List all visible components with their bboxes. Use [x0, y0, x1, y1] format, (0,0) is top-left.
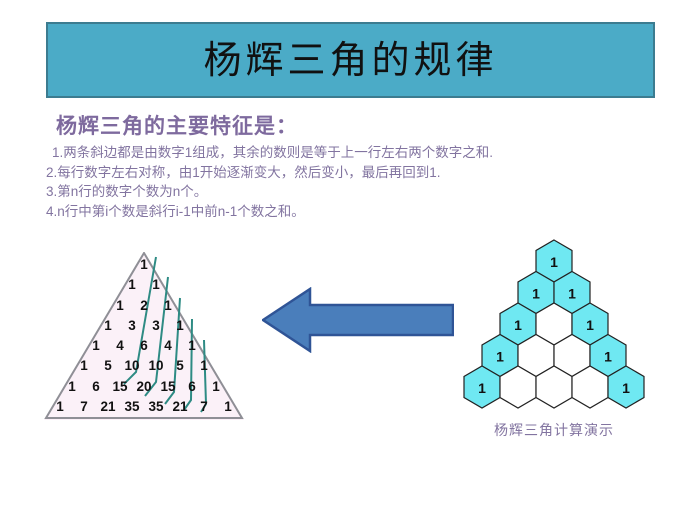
triangle-cell: 1: [60, 377, 84, 397]
hex-label: 1: [532, 286, 540, 302]
hex-label: 1: [550, 254, 558, 270]
triangle-cell: 1: [168, 316, 192, 336]
hex-label: 1: [568, 286, 576, 302]
table-row: 1 6 15 20 15 6 1: [44, 377, 244, 397]
feature-item-3: 3.第n行的数字个数为n个。: [46, 182, 646, 202]
triangle-cell: 1: [144, 275, 168, 295]
hex-label: 1: [496, 349, 504, 365]
triangle-cell: 7: [72, 397, 96, 417]
table-row: 1: [44, 255, 244, 275]
triangle-cell: 6: [180, 377, 204, 397]
triangle-cell: 4: [156, 336, 180, 356]
triangle-cell: 35: [144, 397, 168, 417]
triangle-cell: 1: [72, 356, 96, 376]
triangle-cell: 15: [156, 377, 180, 397]
triangle-cell: 1: [132, 255, 156, 275]
triangle-cell: 5: [96, 356, 120, 376]
triangle-cell: 1: [84, 336, 108, 356]
table-row: 1 2 1: [44, 296, 244, 316]
feature-item-2: 2.每行数字左右对称，由1开始逐渐变大，然后变小，最后再回到1.: [46, 163, 646, 183]
triangle-cell: 1: [180, 336, 204, 356]
triangle-cell: 3: [144, 316, 168, 336]
left-arrow-icon: [262, 287, 454, 353]
triangle-cell: 3: [120, 316, 144, 336]
triangle-number-rows: 1 1 1 1 2 1 1 3 3 1 1 4 6 4 1: [44, 252, 244, 420]
triangle-cell: 1: [192, 356, 216, 376]
triangle-cell: 10: [120, 356, 144, 376]
table-row: 1 5 10 10 5 1: [44, 356, 244, 376]
triangle-cell: 1: [204, 377, 228, 397]
triangle-cell: 15: [108, 377, 132, 397]
feature-item-1: 1.两条斜边都是由数字1组成，其余的数则是等于上一行左右两个数字之和.: [46, 143, 646, 163]
triangle-cell: 6: [132, 336, 156, 356]
triangle-cell: 1: [108, 296, 132, 316]
slide-canvas: 杨辉三角的规律 杨辉三角的主要特征是： 1.两条斜边都是由数字1组成，其余的数则…: [0, 0, 700, 525]
title-banner: 杨辉三角的规律: [46, 22, 655, 98]
hex-label: 1: [622, 380, 630, 396]
hex-label: 1: [586, 317, 594, 333]
table-row: 1 3 3 1: [44, 316, 244, 336]
hex-label: 1: [478, 380, 486, 396]
hex-row: 1 1: [464, 366, 644, 408]
hex-row: 1 1: [500, 303, 608, 345]
triangle-cell: 21: [168, 397, 192, 417]
triangle-cell: 20: [132, 377, 156, 397]
pascal-triangle-figure: 1 1 1 1 2 1 1 3 3 1 1 4 6 4 1: [44, 252, 244, 420]
triangle-cell: 7: [192, 397, 216, 417]
triangle-cell: 5: [168, 356, 192, 376]
triangle-cell: 4: [108, 336, 132, 356]
table-row: 1 7 21 35 35 21 7 1: [44, 397, 244, 417]
hex-label: 1: [514, 317, 522, 333]
hex-label: 1: [604, 349, 612, 365]
triangle-cell: 1: [48, 397, 72, 417]
page-title: 杨辉三角的规律: [203, 41, 497, 79]
triangle-cell: 35: [120, 397, 144, 417]
triangle-cell: 2: [132, 296, 156, 316]
feature-list: 1.两条斜边都是由数字1组成，其余的数则是等于上一行左右两个数字之和. 2.每行…: [46, 143, 646, 221]
table-row: 1 4 6 4 1: [44, 336, 244, 356]
triangle-cell: 1: [120, 275, 144, 295]
triangle-cell: 1: [216, 397, 240, 417]
triangle-cell: 21: [96, 397, 120, 417]
table-row: 1 1: [44, 275, 244, 295]
triangle-cell: 1: [156, 296, 180, 316]
triangle-cell: 10: [144, 356, 168, 376]
subtitle-heading: 杨辉三角的主要特征是：: [56, 110, 298, 140]
triangle-cell: 6: [84, 377, 108, 397]
triangle-cell: 1: [96, 316, 120, 336]
feature-item-4: 4.n行中第i个数是斜行i-1中前n-1个数之和。: [46, 202, 646, 222]
hex-diagram-caption: 杨辉三角计算演示: [458, 420, 650, 440]
hex-honeycomb-figure: 1 1 1 1 1 1 1 1: [458, 238, 650, 410]
